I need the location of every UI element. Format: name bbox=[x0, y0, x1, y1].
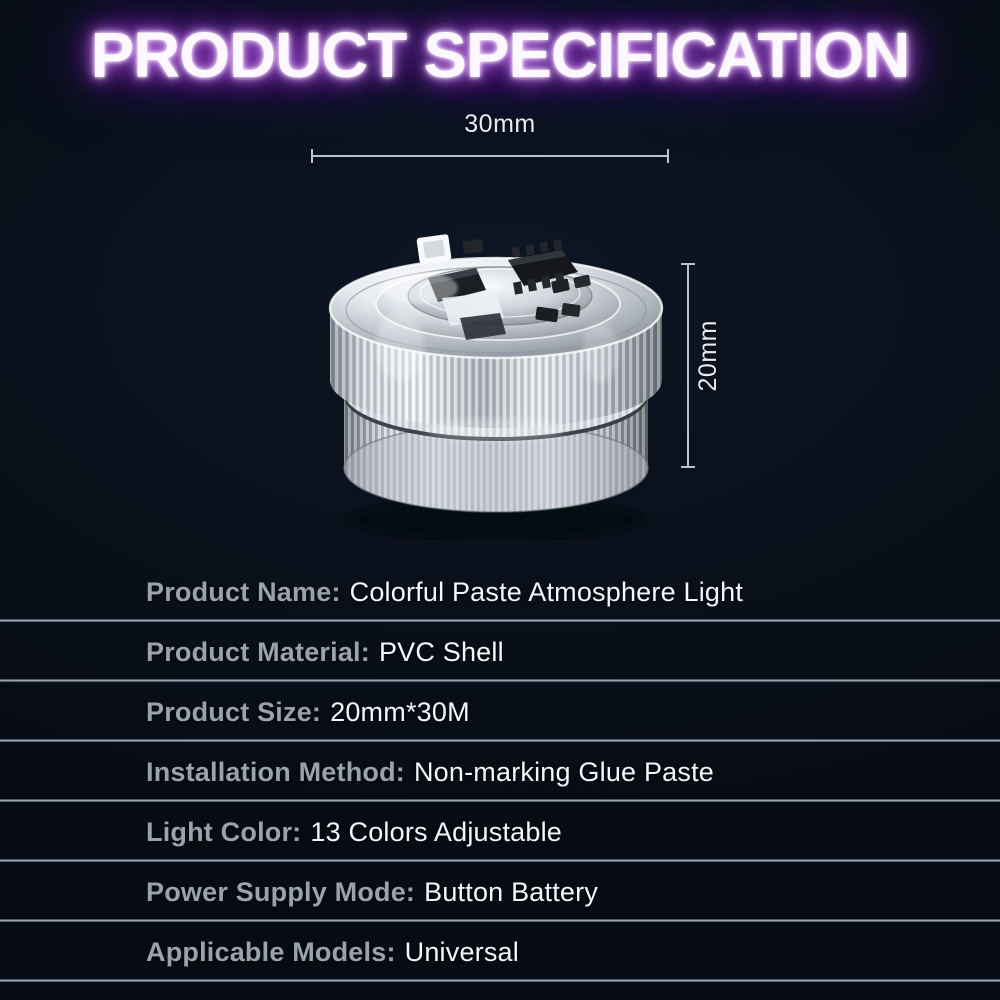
spec-row-product-name: Product Name: Colorful Paste Atmosphere … bbox=[0, 562, 1000, 622]
spec-row-light-color: Light Color: 13 Colors Adjustable bbox=[0, 802, 1000, 862]
width-dimension-cap-right bbox=[667, 149, 669, 163]
height-dimension-label: 20mm bbox=[694, 320, 723, 391]
spec-label: Installation Method: bbox=[146, 757, 405, 788]
spec-row-product-size: Product Size: 20mm*30M bbox=[0, 682, 1000, 742]
specification-table: Product Name: Colorful Paste Atmosphere … bbox=[0, 562, 1000, 982]
product-specification-page: PRODUCT SPECIFICATION 30mm bbox=[0, 0, 1000, 1000]
height-dimension-line bbox=[681, 263, 695, 468]
spec-value: Button Battery bbox=[424, 877, 598, 908]
page-title: PRODUCT SPECIFICATION bbox=[0, 22, 1000, 88]
spec-label: Applicable Models: bbox=[146, 937, 396, 968]
product-photo bbox=[300, 168, 680, 540]
width-dimension-line bbox=[311, 149, 669, 163]
spec-label: Light Color: bbox=[146, 817, 301, 848]
spec-value: PVC Shell bbox=[379, 637, 504, 668]
spec-value: Non-marking Glue Paste bbox=[414, 757, 714, 788]
spec-label: Power Supply Mode: bbox=[146, 877, 415, 908]
height-dimension-bar bbox=[687, 263, 689, 468]
spec-value: Universal bbox=[405, 937, 519, 968]
spec-row-product-material: Product Material: PVC Shell bbox=[0, 622, 1000, 682]
spec-value: 20mm*30M bbox=[330, 697, 470, 728]
width-dimension-bar bbox=[311, 155, 669, 157]
spec-label: Product Name: bbox=[146, 577, 341, 608]
spec-label: Product Material: bbox=[146, 637, 370, 668]
spec-value: Colorful Paste Atmosphere Light bbox=[350, 577, 743, 608]
spec-row-applicable-models: Applicable Models: Universal bbox=[0, 922, 1000, 982]
spec-label: Product Size: bbox=[146, 697, 321, 728]
spec-row-power-supply-mode: Power Supply Mode: Button Battery bbox=[0, 862, 1000, 922]
width-dimension-label: 30mm bbox=[0, 110, 1000, 139]
height-dimension-cap-bottom bbox=[681, 466, 695, 468]
spec-value: 13 Colors Adjustable bbox=[310, 817, 562, 848]
row-separator bbox=[0, 979, 1000, 982]
spec-row-installation-method: Installation Method: Non-marking Glue Pa… bbox=[0, 742, 1000, 802]
